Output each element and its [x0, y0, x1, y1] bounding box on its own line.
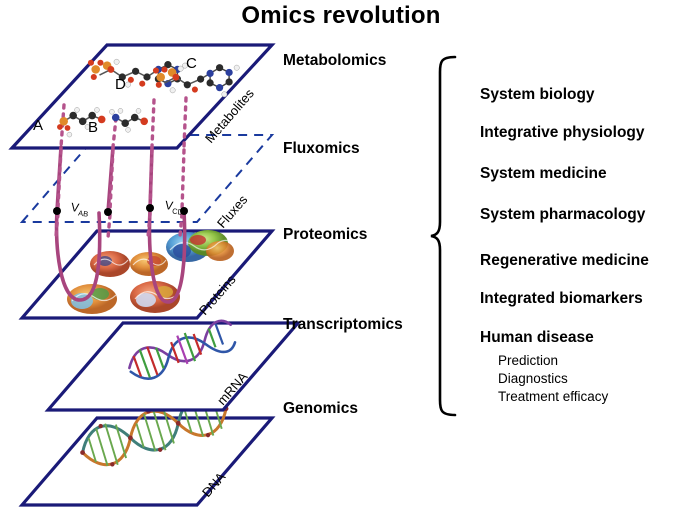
application-item-integrative-physiology: Integrative physiology — [480, 124, 645, 142]
application-item-integrated-biomarkers: Integrated biomarkers — [480, 290, 643, 308]
application-item-human-disease: Human disease — [480, 329, 594, 347]
metabolite-letter-b: B — [88, 119, 98, 136]
application-item-system-biology: System biology — [480, 86, 595, 104]
flux-subscript-vab: AB — [78, 208, 89, 218]
flux-label-vcd: VCD — [164, 198, 185, 217]
omics-label-transcriptomics: Transcriptomics — [283, 316, 403, 334]
omics-label-fluxomics: Fluxomics — [283, 140, 360, 158]
application-item-regenerative-medicine: Regenerative medicine — [480, 252, 649, 270]
plane-genomics — [22, 418, 272, 505]
metabolite-letter-d: D — [115, 76, 126, 93]
application-item-system-medicine: System medicine — [480, 165, 607, 183]
human-disease-sub-diagnostics: Diagnostics — [498, 371, 568, 386]
applications-brace — [431, 57, 455, 415]
omics-label-metabolomics: Metabolomics — [283, 52, 386, 70]
metabolite-letter-a: A — [33, 117, 43, 134]
plane-transcriptomics — [48, 323, 298, 410]
human-disease-sub-treatment-efficacy: Treatment efficacy — [498, 389, 608, 404]
omics-label-genomics: Genomics — [283, 400, 358, 418]
flux-subscript-vcd: CD — [172, 206, 184, 216]
human-disease-sub-prediction: Prediction — [498, 353, 558, 368]
omics-label-proteomics: Proteomics — [283, 226, 367, 244]
metabolite-letter-c: C — [186, 55, 197, 72]
plane-metabolomics — [12, 45, 272, 148]
flux-label-vab: VAB — [70, 200, 90, 219]
application-item-system-pharmacology: System pharmacology — [480, 206, 645, 224]
